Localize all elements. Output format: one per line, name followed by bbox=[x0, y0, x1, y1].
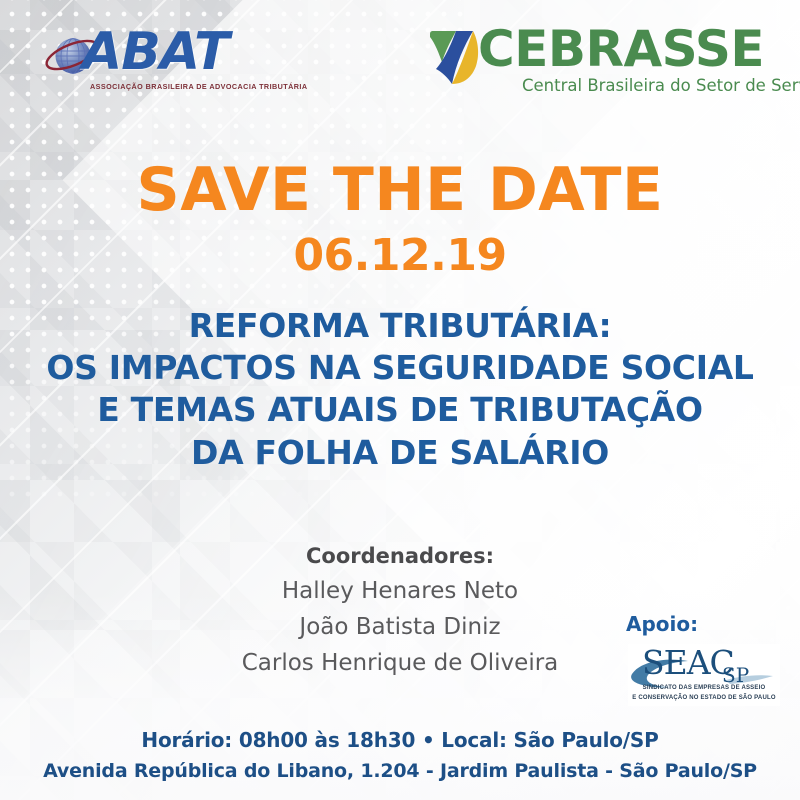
event-title-line-3: E TEMAS ATUAIS DE TRIBUTAÇÃO bbox=[40, 389, 760, 431]
event-title-line-4: DA FOLHA DE SALÁRIO bbox=[40, 432, 760, 474]
event-title-line-2: OS IMPACTOS NA SEGURIDADE SOCIAL bbox=[40, 347, 760, 389]
seac-wordmark: SEAC bbox=[642, 646, 734, 679]
save-the-date-poster: ABAT ASSOCIAÇÃO BRASILEIRA DE ADVOCACIA … bbox=[0, 0, 800, 800]
footer-address: Avenida República do Libano, 1.204 - Jar… bbox=[0, 756, 800, 786]
footer-block: Horário: 08h00 às 18h30 • Local: São Pau… bbox=[0, 724, 800, 786]
support-block: Apoio: SEAC SP SINDICATO DAS EMPRESAS DE… bbox=[614, 612, 794, 706]
seac-tagline-line-2: E CONSERVAÇÃO NO ESTADO DE SÃO PAULO bbox=[628, 694, 780, 704]
event-date: 06.12.19 bbox=[0, 234, 800, 278]
cebrasse-wordmark: CEBRASSE bbox=[478, 24, 764, 74]
event-title: REFORMA TRIBUTÁRIA: OS IMPACTOS NA SEGUR… bbox=[40, 305, 760, 474]
abat-logo: ABAT ASSOCIAÇÃO BRASILEIRA DE ADVOCACIA … bbox=[44, 26, 294, 98]
abat-subtitle: ASSOCIAÇÃO BRASILEIRA DE ADVOCACIA TRIBU… bbox=[90, 82, 308, 91]
seac-tagline: SINDICATO DAS EMPRESAS DE ASSEIO E CONSE… bbox=[628, 684, 780, 704]
coordinators-heading: Coordenadores: bbox=[0, 540, 800, 573]
cebrasse-subtitle: Central Brasileira do Setor de Serviços bbox=[522, 76, 800, 95]
footer-schedule-location: Horário: 08h00 às 18h30 • Local: São Pau… bbox=[0, 724, 800, 756]
abat-wordmark: ABAT bbox=[82, 26, 229, 78]
poster-content: ABAT ASSOCIAÇÃO BRASILEIRA DE ADVOCACIA … bbox=[0, 0, 800, 800]
support-label: Apoio: bbox=[626, 612, 794, 636]
seac-tagline-line-1: SINDICATO DAS EMPRESAS DE ASSEIO bbox=[628, 684, 780, 694]
coordinator-name-1: Halley Henares Neto bbox=[0, 573, 800, 609]
save-the-date-heading: SAVE THE DATE bbox=[0, 160, 800, 220]
event-title-line-1: REFORMA TRIBUTÁRIA: bbox=[40, 305, 760, 347]
seac-logo: SEAC SP SINDICATO DAS EMPRESAS DE ASSEIO… bbox=[628, 644, 780, 706]
cebrasse-logo: CEBRASSE Central Brasileira do Setor de … bbox=[426, 26, 766, 102]
seac-suffix: SP bbox=[722, 665, 749, 685]
